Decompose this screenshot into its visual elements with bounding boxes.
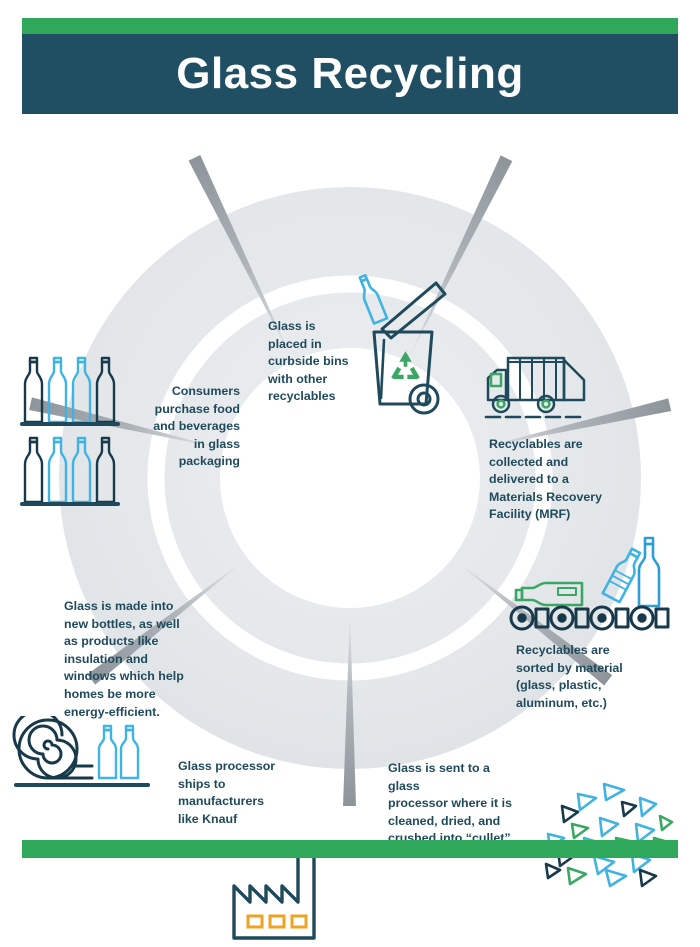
step-5-label: Glass is sent to a glass processor where… [388, 760, 524, 848]
step-7-label: Glass is made into new bottles, as well … [64, 598, 194, 721]
insulation-roll-bottles-icon [12, 716, 152, 790]
factory-windows-icon [248, 916, 306, 927]
cullet-shards-icon [544, 776, 676, 894]
step-3-label: Recyclables are collected and delivered … [489, 436, 613, 524]
recycling-truck-icon [484, 348, 590, 424]
header-title-bar: Glass Recycling [22, 34, 678, 114]
recycling-bin-icon [348, 272, 460, 420]
glass-bottles-icon [18, 348, 136, 508]
header-accent-bar [22, 18, 678, 34]
step-4-label: Recyclables are sorted by material (glas… [516, 642, 638, 712]
sorting-conveyor-icon [508, 526, 680, 636]
header: Glass Recycling [22, 18, 678, 114]
recycling-cycle-diagram: Consumers purchase food and beverages in… [0, 130, 700, 830]
step-6-label: Glass processor ships to manufacturers l… [178, 758, 286, 828]
page-title: Glass Recycling [176, 52, 523, 96]
recycling-symbol-icon [391, 351, 420, 379]
footer-accent-bar [22, 840, 678, 858]
step-2-label: Glass is placed in curbside bins with ot… [268, 318, 350, 406]
step-1-label: Consumers purchase food and beverages in… [148, 383, 240, 471]
